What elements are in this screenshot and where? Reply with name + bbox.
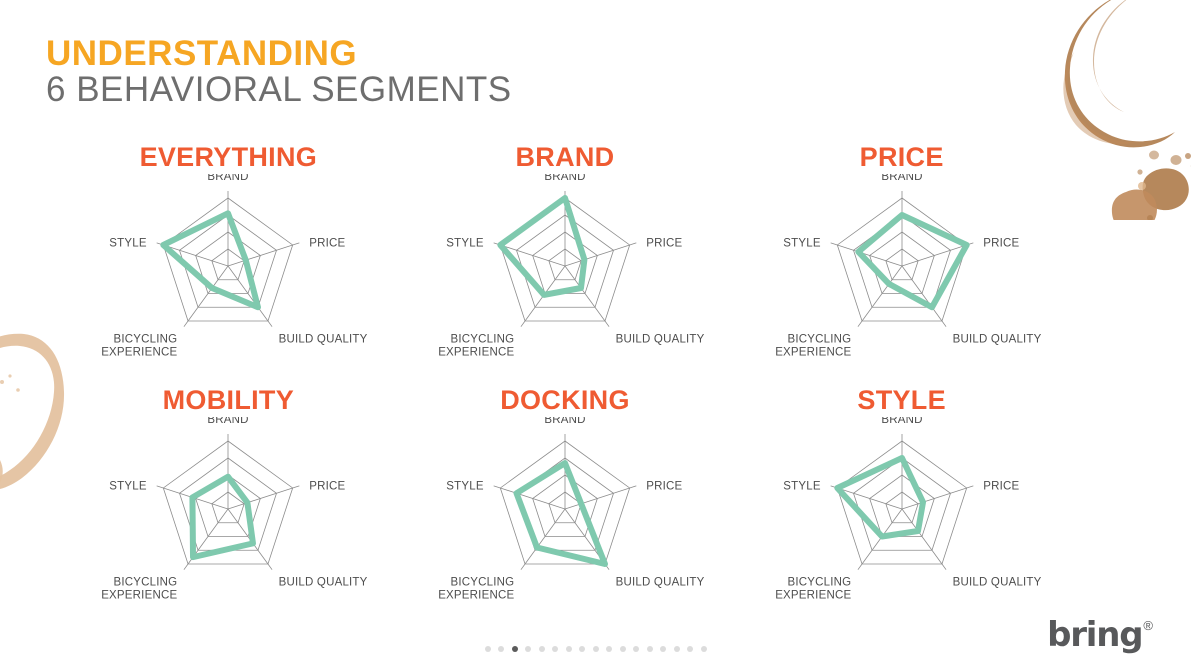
chart-title-style: STYLE <box>733 383 1070 417</box>
axis-label-brand: BRAND <box>544 174 585 183</box>
chart-cell-mobility: MOBILITYBRANDPRICEBUILD QUALITYBICYCLING… <box>60 383 397 626</box>
pagination-dot[interactable] <box>566 646 572 652</box>
axis-tick <box>494 486 501 488</box>
axis-spoke-price <box>228 245 293 266</box>
axis-label-style: STYLE <box>110 238 148 250</box>
axis-label-build-quality: BUILD QUALITY <box>279 333 368 345</box>
registered-trademark-icon: ® <box>1143 619 1153 632</box>
axis-label-build-quality: BUILD QUALITY <box>616 576 705 588</box>
axis-tick <box>942 564 946 570</box>
axis-label-build-quality: BUILD QUALITY <box>279 576 368 588</box>
axis-label-brand: BRAND <box>208 417 249 426</box>
axis-tick <box>293 486 300 488</box>
axis-tick <box>268 321 272 327</box>
series-polygon-brand <box>500 198 584 295</box>
bring-logo: bring ® <box>1047 618 1153 652</box>
pagination-dot[interactable] <box>687 646 693 652</box>
pagination-dot[interactable] <box>606 646 612 652</box>
axis-label-style: STYLE <box>110 481 148 493</box>
axis-tick <box>184 564 188 570</box>
chart-title-price: PRICE <box>733 140 1070 174</box>
axis-label-build-quality: BUILD QUALITY <box>616 333 705 345</box>
axis-tick <box>293 243 300 245</box>
axis-label-brand: BRAND <box>544 417 585 426</box>
slide-pagination[interactable] <box>0 646 1191 652</box>
pagination-dot[interactable] <box>660 646 666 652</box>
axis-tick <box>268 564 272 570</box>
page-title-line-1: UNDERSTANDING <box>46 36 512 72</box>
axis-label-style: STYLE <box>783 481 821 493</box>
pagination-dot[interactable] <box>633 646 639 652</box>
radar-svg: BRANDPRICEBUILD QUALITYBICYCLINGEXPERIEN… <box>734 174 1070 374</box>
pagination-dot[interactable] <box>498 646 504 652</box>
pagination-dot[interactable] <box>525 646 531 652</box>
radar-svg: BRANDPRICEBUILD QUALITYBICYCLINGEXPERIEN… <box>397 174 733 374</box>
series-polygon-style <box>837 458 923 537</box>
axis-spoke-price <box>565 245 630 266</box>
axis-label-bicycling-experience: BICYCLINGEXPERIENCE <box>775 576 851 601</box>
chart-title-docking: DOCKING <box>397 383 734 417</box>
axis-tick <box>630 486 637 488</box>
pagination-dot[interactable] <box>674 646 680 652</box>
pagination-dot-active[interactable] <box>512 646 518 652</box>
axis-label-brand: BRAND <box>208 174 249 183</box>
pagination-dot[interactable] <box>485 646 491 652</box>
axis-label-bicycling-experience: BICYCLINGEXPERIENCE <box>102 576 178 601</box>
axis-label-bicycling-experience: BICYCLINGEXPERIENCE <box>102 333 178 358</box>
radar-plot-style: BRANDPRICEBUILD QUALITYBICYCLINGEXPERIEN… <box>733 417 1070 617</box>
radar-plot-brand: BRANDPRICEBUILD QUALITYBICYCLINGEXPERIEN… <box>397 174 734 374</box>
pagination-dot[interactable] <box>593 646 599 652</box>
axis-spoke-price <box>902 488 967 509</box>
pagination-dot[interactable] <box>620 646 626 652</box>
axis-label-price: PRICE <box>310 481 346 493</box>
radar-chart-grid: EVERYTHINGBRANDPRICEBUILD QUALITYBICYCLI… <box>60 140 1070 626</box>
axis-label-bicycling-experience: BICYCLINGEXPERIENCE <box>438 333 514 358</box>
axis-label-price: PRICE <box>646 238 682 250</box>
bring-logo-wordmark: bring <box>1047 618 1142 652</box>
pagination-dot[interactable] <box>701 646 707 652</box>
axis-spoke-style <box>500 488 565 509</box>
axis-tick <box>942 321 946 327</box>
radar-svg: BRANDPRICEBUILD QUALITYBICYCLINGEXPERIEN… <box>60 417 396 617</box>
page-header: UNDERSTANDING 6 BEHAVIORAL SEGMENTS <box>46 36 512 109</box>
axis-tick <box>521 564 525 570</box>
chart-cell-style: STYLEBRANDPRICEBUILD QUALITYBICYCLINGEXP… <box>733 383 1070 626</box>
axis-label-price: PRICE <box>646 481 682 493</box>
radar-plot-price: BRANDPRICEBUILD QUALITYBICYCLINGEXPERIEN… <box>733 174 1070 374</box>
axis-label-brand: BRAND <box>881 174 922 183</box>
axis-tick <box>966 486 973 488</box>
axis-label-style: STYLE <box>783 238 821 250</box>
axis-tick <box>630 243 637 245</box>
axis-tick <box>858 564 862 570</box>
chart-title-mobility: MOBILITY <box>60 383 397 417</box>
radar-plot-mobility: BRANDPRICEBUILD QUALITYBICYCLINGEXPERIEN… <box>60 417 397 617</box>
coffee-ring-stain-topright <box>1050 0 1191 220</box>
radar-plot-docking: BRANDPRICEBUILD QUALITYBICYCLINGEXPERIEN… <box>397 417 734 617</box>
axis-label-bicycling-experience: BICYCLINGEXPERIENCE <box>438 576 514 601</box>
chart-cell-everything: EVERYTHINGBRANDPRICEBUILD QUALITYBICYCLI… <box>60 140 397 383</box>
chart-cell-price: PRICEBRANDPRICEBUILD QUALITYBICYCLINGEXP… <box>733 140 1070 383</box>
radar-plot-everything: BRANDPRICEBUILD QUALITYBICYCLINGEXPERIEN… <box>60 174 397 374</box>
axis-label-price: PRICE <box>983 481 1019 493</box>
axis-tick <box>184 321 188 327</box>
pagination-dot[interactable] <box>552 646 558 652</box>
radar-svg: BRANDPRICEBUILD QUALITYBICYCLINGEXPERIEN… <box>60 174 396 374</box>
chart-cell-brand: BRANDBRANDPRICEBUILD QUALITYBICYCLINGEXP… <box>397 140 734 383</box>
pagination-dot[interactable] <box>539 646 545 652</box>
axis-label-style: STYLE <box>446 481 484 493</box>
axis-label-style: STYLE <box>446 238 484 250</box>
axis-tick <box>605 321 609 327</box>
axis-label-build-quality: BUILD QUALITY <box>952 333 1041 345</box>
axis-tick <box>157 486 164 488</box>
pagination-dot[interactable] <box>579 646 585 652</box>
chart-title-brand: BRAND <box>397 140 734 174</box>
radar-svg: BRANDPRICEBUILD QUALITYBICYCLINGEXPERIEN… <box>734 417 1070 617</box>
axis-label-bicycling-experience: BICYCLINGEXPERIENCE <box>775 333 851 358</box>
axis-tick <box>521 321 525 327</box>
page-title-line-2: 6 BEHAVIORAL SEGMENTS <box>46 72 512 108</box>
radar-svg: BRANDPRICEBUILD QUALITYBICYCLINGEXPERIEN… <box>397 417 733 617</box>
axis-label-brand: BRAND <box>881 417 922 426</box>
chart-title-everything: EVERYTHING <box>60 140 397 174</box>
axis-label-price: PRICE <box>310 238 346 250</box>
series-polygon-price <box>858 215 966 307</box>
axis-tick <box>858 321 862 327</box>
axis-label-build-quality: BUILD QUALITY <box>952 576 1041 588</box>
coffee-ring-stain-left <box>0 330 66 510</box>
chart-cell-docking: DOCKINGBRANDPRICEBUILD QUALITYBICYCLINGE… <box>397 383 734 626</box>
axis-tick <box>830 243 837 245</box>
pagination-dot[interactable] <box>647 646 653 652</box>
axis-label-price: PRICE <box>983 238 1019 250</box>
